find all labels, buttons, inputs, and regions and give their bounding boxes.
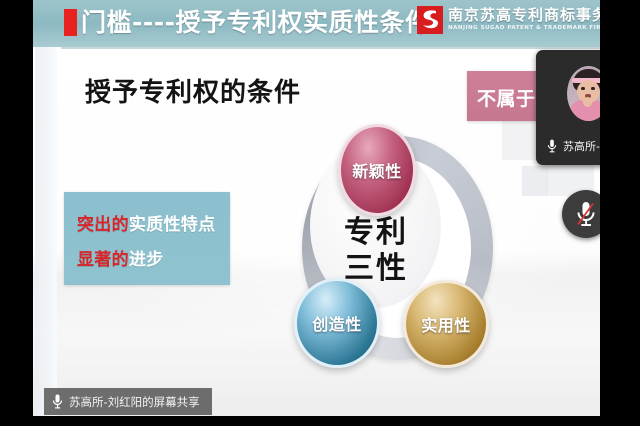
- slide-headline: 授予专利权的条件: [85, 72, 301, 109]
- letterbox-right: [600, 0, 640, 426]
- red-square-bullet-icon: [64, 9, 77, 36]
- blue-callout-line-1-highlight: 突出的: [77, 215, 129, 235]
- shared-slide: 门槛----授予专利权实质性条件 南京苏高专利商标事务所 NANJING SUG…: [33, 0, 600, 416]
- screen-share-viewport: 门槛----授予专利权实质性条件 南京苏高专利商标事务所 NANJING SUG…: [0, 0, 640, 426]
- firm-name-cn: 南京苏高专利商标事务所: [448, 6, 600, 24]
- sugao-logo-icon: [417, 6, 443, 34]
- letterbox-bottom: [0, 416, 640, 426]
- avatar-eye-right: [591, 87, 595, 90]
- firm-name-en: NANJING SUGAO PATENT & TRADEMARK FIRM: [448, 24, 600, 33]
- venn-center-label: 专利 三性: [326, 215, 426, 287]
- screen-share-status-label: 苏高所-刘红阳的屏幕共享: [69, 394, 200, 410]
- blue-callout-line-2: 显著的进步: [77, 245, 164, 270]
- blue-callout-line-2-rest: 进步: [129, 250, 164, 270]
- blue-callout-line-2-highlight: 显著的: [77, 250, 129, 270]
- venn-bubble-utility-label: 实用性: [421, 312, 471, 336]
- venn-center-line-1: 专利: [326, 215, 426, 251]
- slide-decor-left-band: [35, 47, 57, 416]
- slide-decor-panel-3: [522, 166, 548, 196]
- venn-bubble-novelty: 新颖性: [338, 124, 416, 216]
- blue-callout-line-1: 突出的实质性特点: [77, 210, 215, 235]
- venn-bubble-novelty-label: 新颖性: [352, 158, 402, 182]
- slide-header-title: 门槛----授予专利权实质性条件: [81, 7, 431, 39]
- avatar-hand: [583, 97, 592, 107]
- venn-bubble-inventiveness-label: 创造性: [312, 311, 362, 335]
- avatar-eye-left: [581, 87, 585, 90]
- firm-logo: 南京苏高专利商标事务所 NANJING SUGAO PATENT & TRADE…: [417, 6, 600, 34]
- microphone-muted-icon: [575, 200, 597, 228]
- microphone-icon: [547, 139, 557, 153]
- slide-header-rule: [61, 47, 600, 49]
- blue-callout-line-1-rest: 实质性特点: [129, 215, 216, 235]
- venn-bubble-utility: 实用性: [403, 280, 489, 368]
- screen-share-status-bar: 苏高所-刘红阳的屏幕共享: [44, 388, 212, 415]
- letterbox-left: [0, 0, 33, 426]
- venn-bubble-inventiveness: 创造性: [294, 278, 380, 368]
- venn-diagram: 专利 三性 新颖性 创造性 实用性: [250, 110, 500, 370]
- blue-callout-box: 突出的实质性特点 显著的进步: [64, 192, 230, 285]
- microphone-icon: [52, 394, 63, 409]
